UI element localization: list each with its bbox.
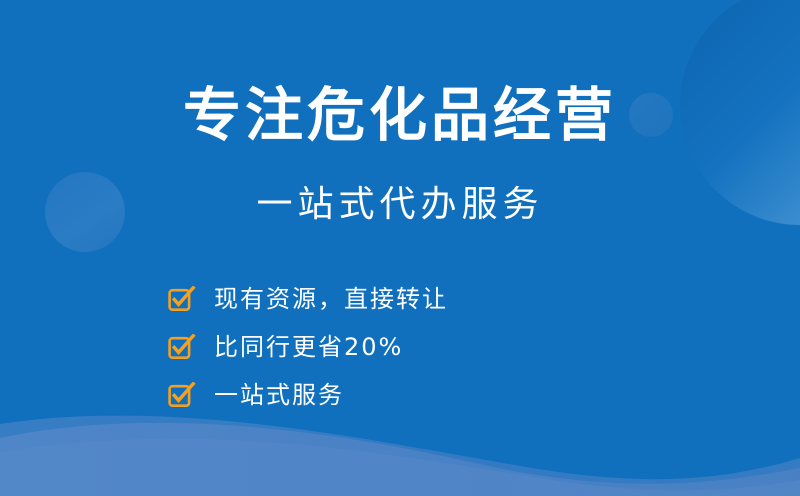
list-item: 现有资源，直接转让 [168,275,588,323]
checkbox-checked-icon [168,286,196,312]
page-subtitle: 一站式代办服务 [0,183,800,227]
list-item: 比同行更省20% [168,323,588,371]
list-item-label: 比同行更省20% [214,333,403,361]
list-item: 一站式服务 [168,371,588,419]
list-item-label: 现有资源，直接转让 [214,285,448,313]
promo-banner: 专注危化品经营 一站式代办服务 现有资源，直接转让 [0,0,800,496]
page-title: 专注危化品经营 [0,82,800,148]
checkbox-checked-icon [168,334,196,360]
feature-list: 现有资源，直接转让 比同行更省20% 一站式 [168,275,588,419]
list-item-label: 一站式服务 [214,381,344,409]
checkbox-checked-icon [168,382,196,408]
